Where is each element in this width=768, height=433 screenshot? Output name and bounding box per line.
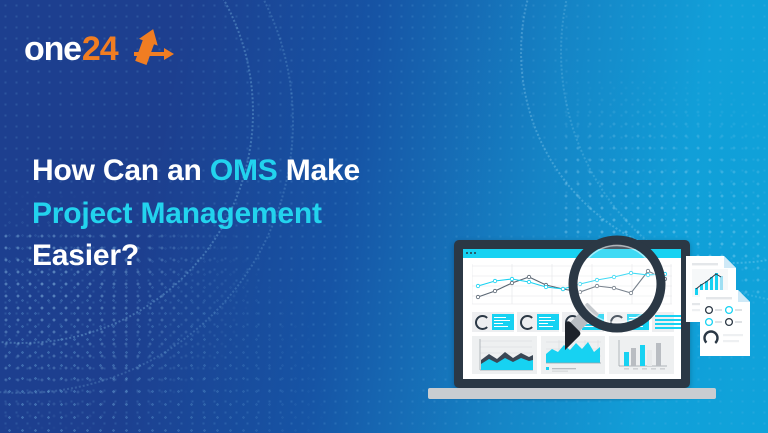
- page-title: How Can an OMS Make Project Management E…: [32, 150, 462, 278]
- marketing-banner: one 24 How Can an OMS Make Project Manag…: [0, 0, 768, 433]
- kpi-card-2[interactable]: [517, 312, 559, 332]
- headline-text-a: How Can an: [32, 154, 210, 187]
- kpi-card-1[interactable]: [472, 312, 514, 332]
- growth-arrows-icon: [110, 26, 182, 68]
- kpi-value-badge: [537, 314, 559, 330]
- logo-text-one: one: [24, 32, 81, 66]
- brand-logo[interactable]: one 24: [24, 26, 118, 66]
- kpi-value-badge: [492, 314, 514, 330]
- report-checklist-sheet: [700, 290, 750, 356]
- donut-progress-icon: [520, 315, 535, 330]
- magnifying-glass-icon: [565, 232, 685, 352]
- headline-line-3: Easier?: [32, 235, 462, 278]
- window-dot-2: [470, 252, 472, 254]
- window-dot-3: [474, 252, 476, 254]
- headline-line-1: How Can an OMS Make: [32, 150, 462, 193]
- laptop-base: [428, 388, 716, 399]
- window-dot-1: [466, 252, 468, 254]
- report-documents: [680, 252, 760, 362]
- panel-1-stacked-area[interactable]: [472, 336, 537, 374]
- headline-line-2: Project Management: [32, 193, 462, 236]
- donut-progress-icon: [475, 315, 490, 330]
- headline-accent-oms: OMS: [210, 154, 278, 187]
- window-controls: [466, 252, 476, 254]
- headline-text-b: Make: [278, 154, 360, 187]
- decorative-arc-top-right: [520, 0, 768, 264]
